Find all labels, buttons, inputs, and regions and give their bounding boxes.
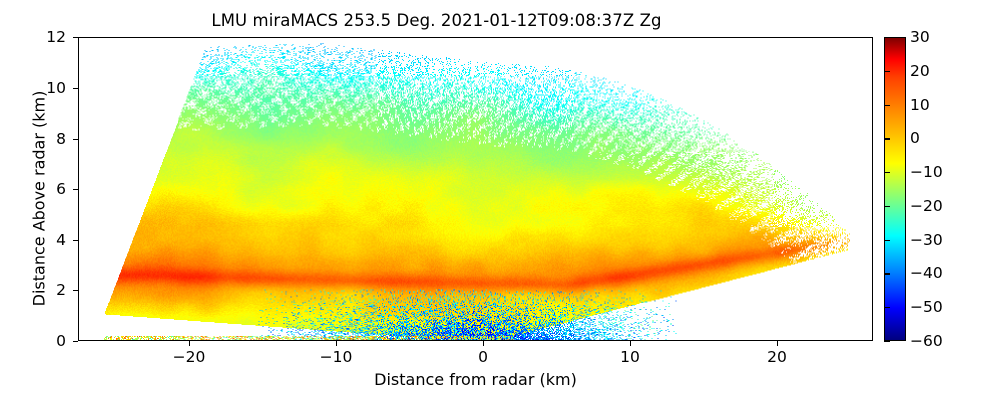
xtick-label: −10	[320, 348, 353, 366]
colorbar-label: −10	[910, 163, 943, 181]
xtick-mark	[630, 341, 631, 346]
colorbar-tick	[884, 206, 890, 207]
radar-rhi-figure: LMU miraMACS 253.5 Deg. 2021-01-12T09:08…	[0, 0, 1000, 400]
x-axis-title: Distance from radar (km)	[78, 370, 873, 389]
xtick-mark	[336, 341, 337, 346]
colorbar-label: −40	[910, 264, 943, 282]
colorbar-label: −60	[910, 332, 943, 350]
ytick-mark	[73, 341, 78, 342]
xtick-label: 0	[478, 348, 488, 366]
colorbar-label: −20	[910, 197, 943, 215]
colorbar-tick	[884, 71, 890, 72]
colorbar-tick	[884, 240, 890, 241]
page-title: LMU miraMACS 253.5 Deg. 2021-01-12T09:08…	[0, 11, 873, 30]
xtick-mark	[189, 341, 190, 346]
ytick-mark	[73, 189, 78, 190]
ytick-mark	[73, 37, 78, 38]
xtick-mark	[777, 341, 778, 346]
colorbar-tick	[884, 105, 890, 106]
xtick-label: 10	[620, 348, 640, 366]
ytick-mark	[73, 139, 78, 140]
colorbar-label: −30	[910, 231, 943, 249]
colorbar-label: 10	[910, 96, 930, 114]
xtick-mark	[483, 341, 484, 346]
ytick-mark	[73, 240, 78, 241]
colorbar-tick	[884, 172, 890, 173]
ytick-mark	[73, 88, 78, 89]
xtick-label: 20	[767, 348, 787, 366]
colorbar-label: 0	[910, 129, 920, 147]
rhi-heatmap	[79, 38, 872, 340]
colorbar-tick	[884, 138, 890, 139]
xtick-label: −20	[173, 348, 206, 366]
colorbar-label: 30	[910, 28, 930, 46]
ytick-label: 12	[0, 28, 66, 46]
colorbar-tick	[884, 273, 890, 274]
colorbar-tick	[884, 307, 890, 308]
rhi-canvas	[79, 38, 872, 340]
colorbar-tick	[884, 37, 890, 38]
colorbar-label: −50	[910, 298, 943, 316]
ytick-mark	[73, 290, 78, 291]
plot-area[interactable]	[78, 37, 873, 341]
colorbar-label: 20	[910, 62, 930, 80]
colorbar-tick	[884, 341, 890, 342]
y-axis-title: Distance Above radar (km)	[30, 47, 49, 351]
colorbar[interactable]	[884, 37, 906, 341]
